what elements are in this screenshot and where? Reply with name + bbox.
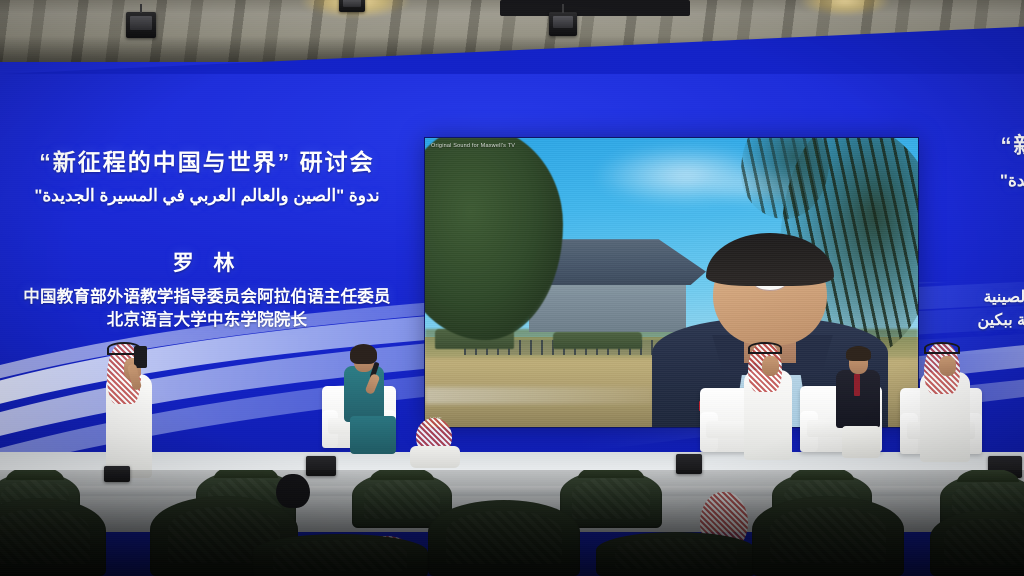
event-title-ar: ندوة "الصين والعالم العربي في المسيرة ال… [0, 185, 414, 207]
speaker-name: 罗 林 [0, 251, 414, 278]
remote-speaker-hair [706, 233, 834, 286]
audience-chair-front-row [0, 498, 106, 576]
video-hedge [553, 332, 642, 349]
audience-attendee-head [276, 474, 310, 508]
panelist-1-agal [748, 342, 782, 354]
panelist-3-agal [924, 342, 960, 354]
audience-chair-back-row [560, 470, 662, 528]
moderator-jacket [344, 366, 384, 422]
stage-light-icon [339, 0, 365, 12]
panelist-3-figure [918, 340, 984, 462]
attendee-shoulders [410, 446, 460, 468]
panelist-2-hair [846, 346, 871, 361]
panelist-2-legs [842, 426, 880, 458]
ceiling-light-glow [800, 0, 890, 16]
video-source-label: Original Sound for Maxwell's TV [431, 143, 515, 149]
broadcast-frame: “新征程的中国与世界” 研讨会 ندوة "الصين والعالم العر… [0, 0, 1024, 576]
panelist-1-face [762, 356, 779, 376]
stage-light-icon [549, 12, 577, 36]
audience-seating [0, 470, 1024, 576]
stage-light-icon [126, 12, 156, 38]
panelist-3-face [939, 356, 956, 376]
speaker-role-line-2: 北京语言大学中东学院院长 [0, 310, 414, 331]
attendee-photographing [98, 338, 162, 478]
audience-chair-front-row [596, 532, 756, 576]
panelist-1-figure [742, 340, 806, 460]
audience-chair-front-row [428, 500, 580, 576]
moderator-trousers [350, 416, 396, 454]
audience-chair-front-row [930, 510, 1024, 576]
lighting-rig-bar [500, 0, 690, 16]
speaker-role-line-1: 中国教育部外语教学指导委员会阿拉伯语主任委员 [0, 287, 414, 308]
panelist-2-tie [854, 374, 860, 396]
moderator-figure [336, 344, 406, 454]
moderator-hair [350, 344, 377, 364]
audience-chair-front-row [752, 496, 904, 576]
left-title-panel: “新征程的中国与世界” 研讨会 ندوة "الصين والعالم العر… [0, 148, 414, 331]
video-path [425, 387, 652, 404]
stage-front-attendee [408, 418, 464, 468]
audience-chair-front-row [252, 534, 428, 576]
panelist-2-figure [832, 344, 894, 458]
event-title-zh: “新征程的中国与世界” 研讨会 [0, 148, 414, 177]
